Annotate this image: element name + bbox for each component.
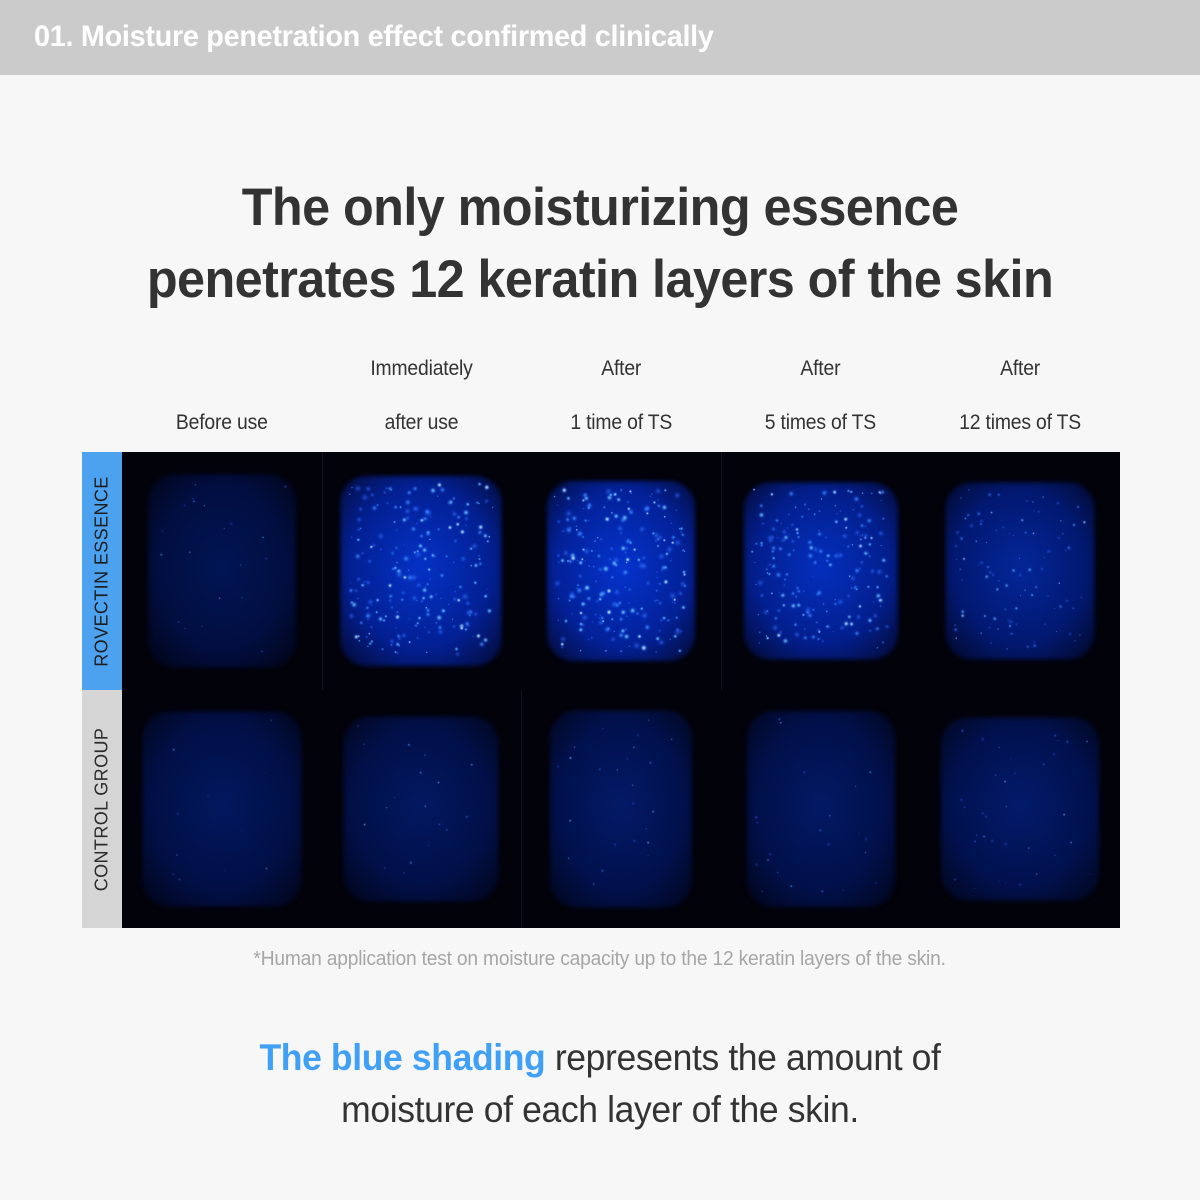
specimen-speckles: [747, 711, 895, 907]
specimen-speckles: [547, 481, 695, 661]
skin-specimen-patch: [946, 483, 1095, 660]
microscopy-cell: [920, 690, 1120, 928]
grid-row-label-column: ROVECTIN ESSENCE CONTROL GROUP: [82, 452, 122, 928]
specimen-speckles: [148, 475, 296, 668]
legend-caption-rest: represents the amount of: [545, 1037, 940, 1078]
skin-specimen-patch: [344, 717, 499, 902]
column-label-line-2: after use: [370, 409, 472, 436]
microscopy-cell: [920, 452, 1120, 690]
microscopy-cell: [122, 452, 322, 690]
microscopy-cell: [322, 452, 522, 690]
skin-specimen-patch: [142, 712, 301, 907]
skin-specimen-patch: [148, 475, 296, 668]
specimen-speckles: [341, 476, 502, 666]
column-label-after-1-time: After1 time of TS: [521, 376, 721, 438]
microscopy-cell: [322, 690, 522, 928]
page-title: The only moisturizing essence penetrates…: [0, 172, 1200, 316]
microscopy-cell: [721, 690, 921, 928]
legend-highlight-text: The blue shading: [259, 1037, 545, 1078]
row-label-control-group: CONTROL GROUP: [82, 690, 122, 928]
column-label-after-5-times: After5 times of TS: [721, 376, 921, 438]
promo-page: 01. Moisture penetration effect confirme…: [0, 0, 1200, 1200]
legend-caption-line-1: The blue shading represents the amount o…: [24, 1032, 1176, 1084]
footnote-text: *Human application test on moisture capa…: [254, 948, 946, 971]
specimen-speckles: [142, 712, 301, 907]
microscopy-cell: [721, 452, 921, 690]
column-label-immediately-after-use: Immediatelyafter use: [322, 376, 522, 438]
skin-specimen-patch: [550, 711, 692, 908]
legend-caption-line-2: moisture of each layer of the skin.: [24, 1084, 1176, 1136]
skin-specimen-patch: [941, 718, 1099, 901]
specimen-speckles: [941, 718, 1099, 901]
legend-caption: The blue shading represents the amount o…: [0, 1032, 1200, 1136]
specimen-speckles: [744, 483, 898, 660]
footnote: *Human application test on moisture capa…: [0, 948, 1200, 971]
specimen-speckles: [344, 717, 499, 902]
column-label-line-1: Immediately: [370, 355, 472, 382]
clinical-image-grid: ROVECTIN ESSENCE CONTROL GROUP: [82, 452, 1120, 928]
column-label-line-1: After: [765, 355, 876, 382]
page-title-line-2: penetrates 12 keratin layers of the skin: [30, 244, 1170, 316]
column-label-line-2: 12 times of TS: [959, 409, 1081, 436]
grid-row-rovectin-essence: [122, 452, 1120, 690]
specimen-speckles: [946, 483, 1095, 660]
microscopy-cell: [521, 452, 721, 690]
skin-specimen-patch: [747, 711, 895, 907]
column-label-line-2: 5 times of TS: [765, 409, 876, 436]
row-label-rovectin-essence: ROVECTIN ESSENCE: [82, 452, 122, 690]
column-label-before-use: Before use: [122, 376, 322, 438]
microscopy-image-panel: [122, 452, 1120, 928]
column-label-line-2: 1 time of TS: [570, 409, 672, 436]
microscopy-cell: [122, 690, 322, 928]
specimen-speckles: [550, 711, 692, 908]
grid-column-labels: Before use Immediatelyafter use After1 t…: [122, 376, 1120, 438]
skin-specimen-patch: [547, 481, 695, 661]
section-header-title: 01. Moisture penetration effect confirme…: [34, 20, 714, 54]
row-label-text: ROVECTIN ESSENCE: [92, 476, 113, 666]
microscopy-cell: [521, 690, 721, 928]
skin-specimen-patch: [744, 483, 898, 660]
column-label-line-1: After: [570, 355, 672, 382]
column-label-after-12-times: After12 times of TS: [920, 376, 1120, 438]
row-label-text: CONTROL GROUP: [92, 727, 113, 891]
column-label-line-1: After: [959, 355, 1081, 382]
column-label-line-2: Before use: [176, 409, 268, 436]
section-header-bar: 01. Moisture penetration effect confirme…: [0, 0, 1200, 75]
grid-row-control-group: [122, 690, 1120, 928]
page-title-line-1: The only moisturizing essence: [30, 172, 1170, 244]
skin-specimen-patch: [341, 476, 502, 666]
